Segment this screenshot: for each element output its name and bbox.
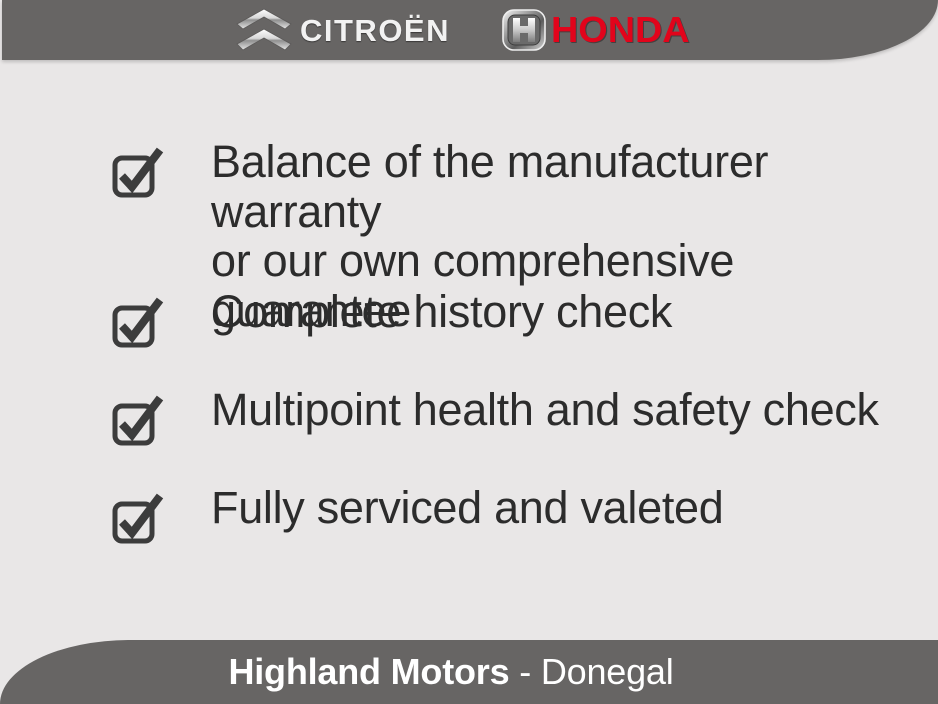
feature-list: Balance of the manufacturer warranty or … — [0, 60, 938, 635]
dealer-separator: - — [519, 651, 531, 692]
honda-brand-logo: HONDA — [500, 7, 683, 53]
list-item-label: Fully serviced and valeted — [211, 483, 723, 533]
citroen-chevrons-icon — [233, 7, 295, 53]
dealer-title: Highland Motors - Donegal — [228, 654, 673, 690]
honda-wordmark: HONDA — [551, 12, 690, 48]
list-item: Fully serviced and valeted — [110, 489, 723, 549]
list-item: Multipoint health and safety check — [110, 391, 879, 451]
citroen-brand-logo: CITROËN — [233, 7, 450, 53]
brand-header-bar: CITROËN — [2, 0, 938, 60]
checkbox-checked-icon — [110, 293, 168, 353]
dealer-name: Highland Motors — [228, 651, 509, 692]
checkbox-checked-icon — [110, 391, 168, 451]
checkbox-checked-icon — [110, 489, 168, 549]
dealer-location: Donegal — [541, 651, 674, 692]
honda-h-emblem-icon — [500, 7, 548, 53]
brand-logo-group: CITROËN — [233, 7, 683, 53]
citroen-wordmark: CITROËN — [300, 15, 450, 46]
list-item-label: Multipoint health and safety check — [211, 385, 879, 435]
dealer-footer-bar: Highland Motors - Donegal — [0, 640, 938, 704]
list-item: Complete history check — [110, 293, 672, 353]
list-item-label: Complete history check — [211, 287, 672, 337]
checkbox-checked-icon — [110, 143, 168, 203]
